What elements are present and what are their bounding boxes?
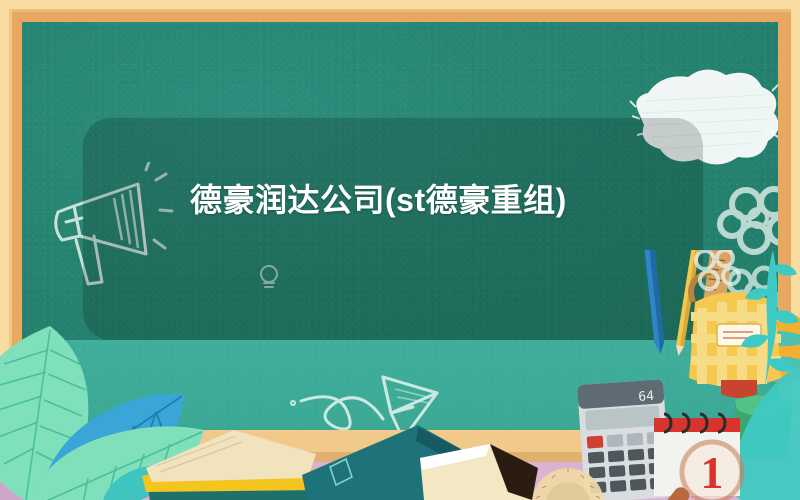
board-frame-highlight-top [9, 9, 791, 12]
poster-canvas: 德豪润达公司(st德豪重组) [0, 0, 800, 500]
magnifier-number: 1 [701, 447, 724, 498]
calculator-display: 64 [638, 389, 655, 405]
protractor-icon [528, 450, 608, 500]
dark-book [420, 440, 540, 500]
magnifying-glass-icon: 1 [640, 410, 770, 500]
page-title: 德豪润达公司(st德豪重组) [190, 180, 660, 221]
